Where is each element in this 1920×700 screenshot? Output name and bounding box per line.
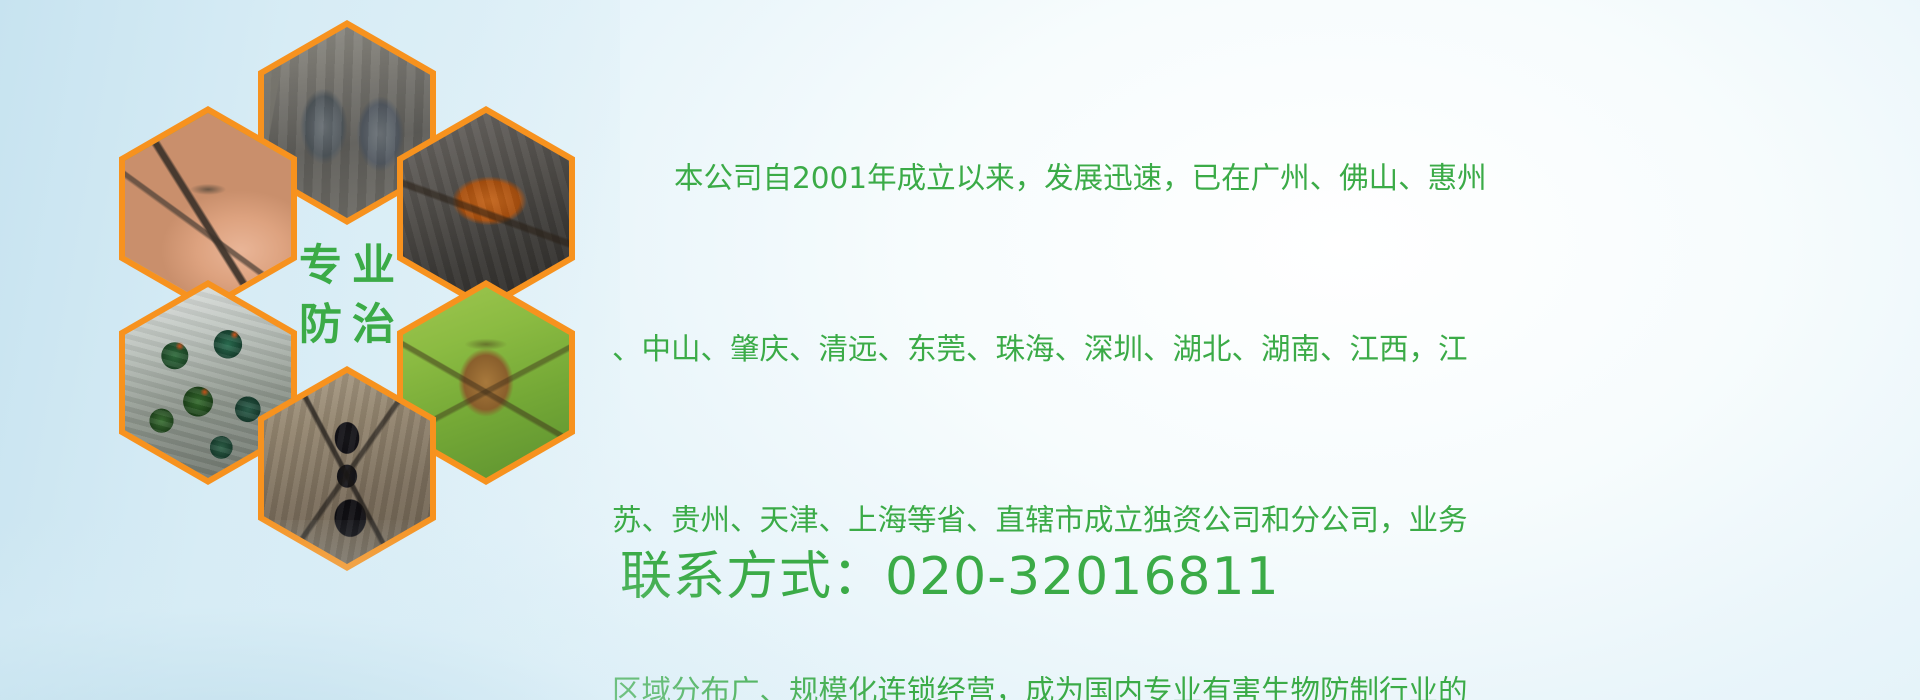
contact-line-primary[interactable]: 联系方式：020-32016811	[612, 540, 1912, 614]
intro-line-2: 、中山、肇庆、清远、东莞、珠海、深圳、湖北、湖南、江西，江	[612, 321, 1912, 378]
hex-collage: 专业 防治	[70, 8, 610, 568]
center-badge-line2: 防治	[289, 296, 405, 354]
hex-image-ant	[264, 373, 430, 564]
contact-block: 联系方式：020-32016811 159-1588-1110	[612, 392, 1912, 700]
center-badge: 专业 防治	[258, 193, 436, 398]
banner-root: 专业 防治 本公司自2001年成立以来，发展迅速，已在广州、佛山、惠州 、中山、…	[0, 0, 1920, 700]
center-badge-line1: 专业	[289, 237, 405, 295]
intro-line-1: 本公司自2001年成立以来，发展迅速，已在广州、佛山、惠州	[612, 150, 1912, 207]
